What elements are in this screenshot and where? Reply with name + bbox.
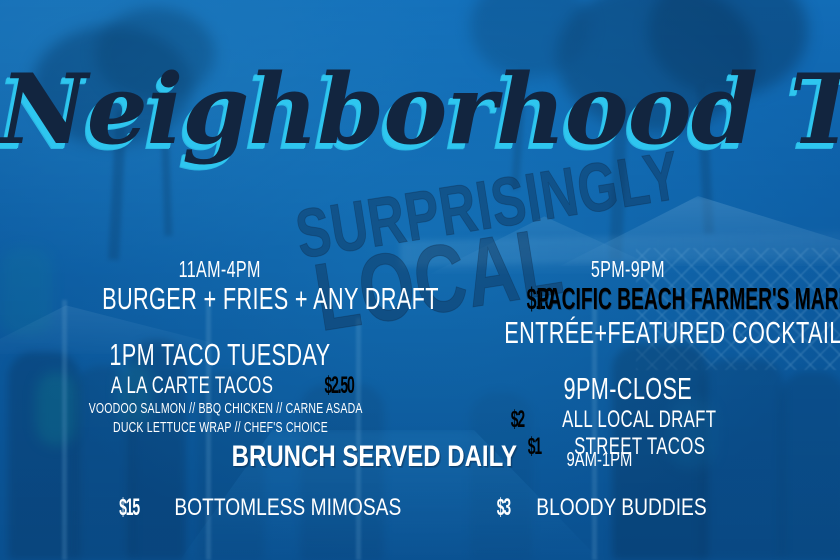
neighborhood-tuesday-poster: SURPRISINGLY LOCAL Neighborhood Tuesday … (0, 0, 840, 560)
brunch-title: BRUNCH SERVED DAILY (232, 440, 517, 474)
special-time-lunch: 11AM-4PM (30, 256, 410, 282)
special-time-taco-tuesday: 1PM TACO TUESDAY (30, 338, 410, 372)
special-a-la-carte-tacos: A LA CARTE TACOS$2.50 (30, 372, 410, 399)
page-title: Neighborhood Tuesday (0, 62, 840, 158)
a-la-carte-price: $2.50 (325, 372, 354, 399)
mimosas-price: $15 (119, 494, 139, 522)
a-la-carte-label: A LA CARTE TACOS (111, 372, 273, 399)
all-local-draft-label: ALL LOCAL DRAFT (562, 406, 716, 433)
all-local-draft-price: $2 (511, 406, 524, 433)
brunch-section: BRUNCH SERVED DAILY9AM-1PM $15BOTTOMLESS… (0, 440, 840, 522)
brunch-hours: 9AM-1PM (566, 449, 632, 472)
burger-headline-text: BURGER + FRIES + ANY DRAFT (102, 282, 439, 316)
brunch-heading-row: BRUNCH SERVED DAILY9AM-1PM (0, 440, 840, 474)
bloody-buddies-price: $3 (497, 494, 510, 522)
taco-detail-line-2: DUCK LETTUCE WRAP // CHEF'S CHOICE (30, 418, 410, 437)
bloody-buddies-label: BLOODY BUDDIES (536, 494, 706, 522)
specials-column-right: 5PM-9PM PACIFIC BEACH FARMER'S MARKET EN… (432, 256, 824, 460)
special-time-late-night: 9PM-CLOSE (432, 372, 824, 406)
mimosas-label: BOTTOMLESS MIMOSAS (174, 494, 401, 522)
special-headline-burger: BURGER + FRIES + ANY DRAFT$10 (30, 282, 410, 316)
special-time-dinner: 5PM-9PM (432, 256, 824, 282)
taco-detail-line-1: VOODOO SALMON // BBQ CHICKEN // CARNE AS… (30, 399, 410, 418)
brunch-item-bloody-buddies: $3BLOODY BUDDIES (492, 494, 728, 522)
brunch-item-mimosas: $15BOTTOMLESS MIMOSAS (112, 494, 430, 522)
specials-column-left: 11AM-4PM BURGER + FRIES + ANY DRAFT$10 1… (30, 256, 410, 437)
brunch-items-row: $15BOTTOMLESS MIMOSAS $3BLOODY BUDDIES (0, 494, 840, 522)
special-subline-entree-cocktail: ENTRÉE+FEATURED COCKTAIL (432, 316, 824, 350)
late-night-item-draft: $2ALL LOCAL DRAFT (432, 406, 824, 433)
special-headline-farmers-market: PACIFIC BEACH FARMER'S MARKET (432, 282, 824, 316)
